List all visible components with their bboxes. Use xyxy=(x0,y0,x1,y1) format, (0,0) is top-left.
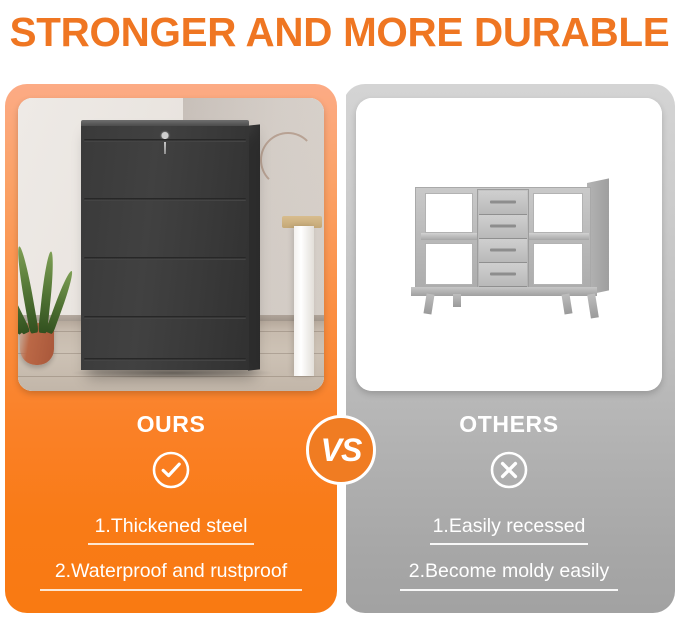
feature-item: 1.Easily recessed xyxy=(343,516,675,545)
check-circle-icon xyxy=(151,450,191,490)
panel-gutter xyxy=(337,84,346,613)
feature-item: 1.Thickened steel xyxy=(5,516,337,545)
cabinet-body xyxy=(81,126,249,370)
sideboard-drawer-stack xyxy=(477,189,529,289)
sideboard-shelf xyxy=(529,233,589,240)
panel-label-others: OTHERS xyxy=(343,411,675,438)
sideboard-open-shelf xyxy=(533,243,583,285)
sideboard-leg xyxy=(423,293,434,314)
cabinet-side xyxy=(248,124,260,370)
feature-underline xyxy=(400,589,618,591)
feature-item: 2.Waterproof and rustproof xyxy=(5,561,337,590)
sideboard-open-shelf xyxy=(425,243,473,285)
vs-badge: VS xyxy=(306,415,376,485)
feature-list-others: 1.Easily recessed 2.Become moldy easily xyxy=(343,516,675,607)
comparison-panel-others: OTHERS 1.Easily recessed 2.Become moldy … xyxy=(343,84,675,613)
x-circle-icon xyxy=(489,450,529,490)
sideboard-drawer xyxy=(479,191,527,215)
sideboard-drawer xyxy=(479,215,527,239)
sideboard-drawer xyxy=(479,239,527,263)
sideboard-leg xyxy=(561,293,572,314)
panel-label-ours: OURS xyxy=(5,411,337,438)
table-leg xyxy=(294,226,314,376)
sideboard-leg xyxy=(453,294,461,307)
feature-label: 1.Easily recessed xyxy=(431,516,588,543)
sideboard-open-shelf xyxy=(425,193,473,233)
wall-decor-icon xyxy=(260,132,316,188)
filing-cabinet xyxy=(81,120,249,370)
feature-label: 1.Thickened steel xyxy=(93,516,250,543)
feature-underline xyxy=(40,589,302,591)
room-scene xyxy=(18,98,324,391)
sideboard-shelf xyxy=(421,233,477,240)
feature-list-ours: 1.Thickened steel 2.Waterproof and rustp… xyxy=(5,516,337,607)
feature-item: 2.Become moldy easily xyxy=(343,561,675,590)
wooden-sideboard xyxy=(409,183,609,307)
comparison-panel-ours: OURS 1.Thickened steel 2.Waterproof and … xyxy=(5,84,337,613)
sideboard-open-shelf xyxy=(533,193,583,233)
feature-label: 2.Waterproof and rustproof xyxy=(53,561,289,588)
feature-underline xyxy=(430,543,588,545)
page-title: STRONGER AND MORE DURABLE xyxy=(5,0,674,72)
feature-label: 2.Become moldy easily xyxy=(407,561,612,588)
feature-underline xyxy=(88,543,254,545)
white-backdrop xyxy=(356,98,662,391)
sideboard-drawer xyxy=(479,263,527,287)
product-image-ours xyxy=(18,98,324,391)
sideboard-leg xyxy=(587,293,599,318)
product-image-others xyxy=(356,98,662,391)
